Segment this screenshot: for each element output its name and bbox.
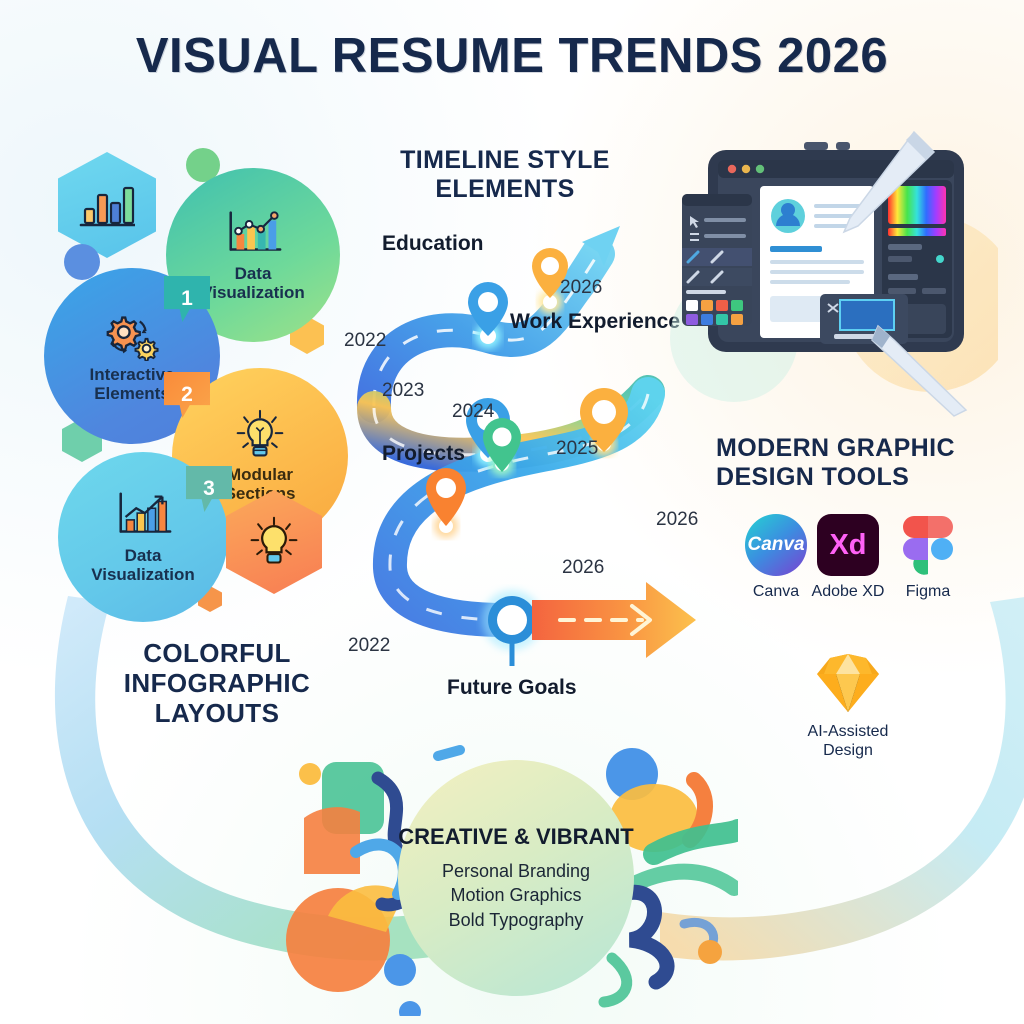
sketch-diamond-logo [811,650,885,716]
tool-figma[interactable]: Figma [880,514,976,602]
page-title: VISUAL RESUME TRENDS 2026 [0,28,1024,84]
growth-chart-icon [112,490,174,542]
lightbulb-icon [229,409,291,461]
adobe-xd-logo: Xd [817,514,879,576]
timeline-year-2026-top: 2026 [560,277,602,299]
timeline-label-projects: Projects [382,442,465,466]
timeline-road-graphic [336,196,706,666]
timeline-year-2026-right: 2026 [656,509,698,531]
creative-item: Bold Typography [442,908,590,932]
bar-line-chart-icon [222,208,284,260]
infographic-canvas: VISUAL RESUME TRENDS 2026 DataV [0,0,1024,1024]
canva-wordmark: Canva [747,534,804,556]
bubble-label: DataVisualization [81,546,205,584]
timeline-year-2025: 2025 [556,438,598,460]
heading-colorful-infographic-layouts: COLORFUL INFOGRAPHIC LAYOUTS [92,638,342,728]
canva-logo: Canva [745,514,807,576]
timeline-label-education: Education [382,232,484,256]
timeline-year-2022-upper: 2022 [344,330,386,352]
xd-wordmark: Xd [829,529,866,562]
tool-label: AI-Assisted Design [800,723,896,761]
figma-logo [897,514,959,576]
timeline-label-work-experience: Work Experience [510,310,680,334]
gears-icon [101,309,163,361]
timeline-year-2026-mid: 2026 [562,557,604,579]
creative-item: Personal Branding [442,859,590,883]
tool-ai-assisted-design[interactable]: AI-Assisted Design [800,650,896,761]
pin-projects [426,468,466,526]
timeline-year-2023: 2023 [382,380,424,402]
timeline-year-2022-lower: 2022 [348,635,390,657]
creative-vibrant-card: CREATIVE & VIBRANT Personal Branding Mot… [398,760,634,996]
tablet-design-software-illustration [668,128,998,418]
timeline-label-future-goals: Future Goals [447,676,577,700]
decor-blue-dot [64,244,100,280]
hexagon-bar-chart [58,152,156,258]
creative-item: Motion Graphics [442,883,590,907]
creative-items: Personal Branding Motion Graphics Bold T… [442,859,590,931]
heading-modern-graphic-design-tools: MODERN GRAPHIC DESIGN TOOLS [716,434,1016,492]
lightbulb-icon [246,515,302,569]
tool-label: Figma [880,583,976,602]
creative-title: CREATIVE & VIBRANT [398,824,634,849]
timeline-year-2024: 2024 [452,401,494,423]
bar-chart-icon [79,179,135,231]
